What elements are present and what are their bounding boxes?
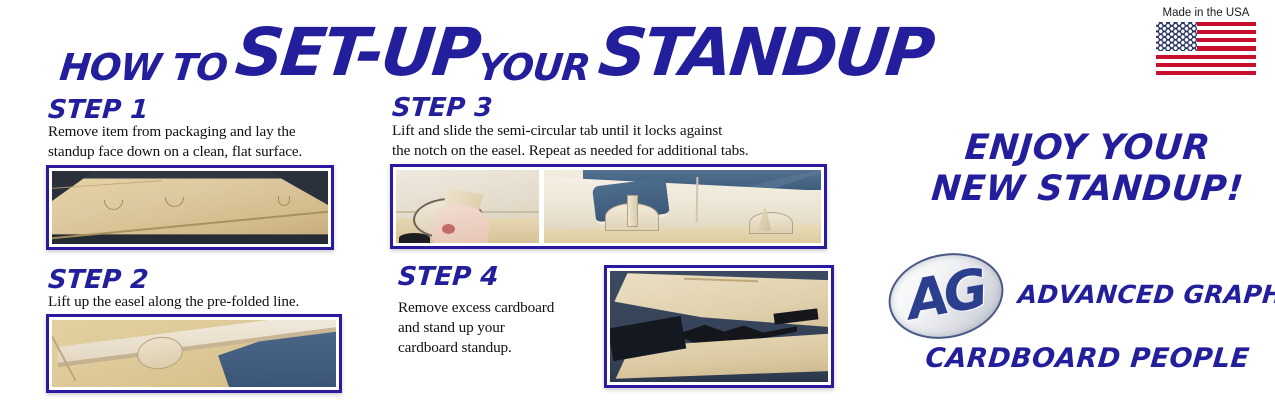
closing-line-1: ENJOY YOUR xyxy=(913,128,1262,169)
step-1-photo xyxy=(52,171,328,244)
step-4-photo xyxy=(610,271,828,382)
step-3-photo-right xyxy=(544,170,821,243)
title-part-your: YOUR xyxy=(476,49,591,86)
title-part-how-to: HOW TO xyxy=(58,49,229,86)
logo-monogram: AG xyxy=(879,238,1011,349)
step-3-heading: STEP 3 xyxy=(391,93,494,123)
step-2-photo xyxy=(52,320,336,387)
step-4-body: Remove excess cardboard and stand up you… xyxy=(398,298,618,357)
made-in-usa-badge: Made in the USA xyxy=(1150,7,1262,75)
brand-row: AG ADVANCED GRAPHICS xyxy=(886,248,1266,340)
closing-message: ENJOY YOUR NEW STANDUP! xyxy=(915,128,1260,211)
step-2-photo-frame xyxy=(46,314,342,393)
step-1-body: Remove item from packaging and lay the s… xyxy=(48,122,348,162)
step-4-photo-frame xyxy=(604,265,834,388)
made-in-usa-caption: Made in the USA xyxy=(1150,7,1262,19)
step-1-heading: STEP 1 xyxy=(47,95,150,125)
step-3-photo-frame xyxy=(390,164,827,249)
usa-flag-icon xyxy=(1156,22,1256,75)
advanced-graphics-logo-icon: AG xyxy=(886,248,1004,340)
step-3-body: Lift and slide the semi-circular tab unt… xyxy=(392,121,832,161)
step-3-photo-left xyxy=(396,170,539,243)
title-part-set-up: SET-UP xyxy=(232,20,481,86)
instruction-sheet: HOW TO SET-UP YOUR STANDUP Made in the U… xyxy=(0,0,1275,417)
step-1-photo-frame xyxy=(46,165,334,250)
closing-line-2: NEW STANDUP! xyxy=(913,169,1262,210)
step-4-heading: STEP 4 xyxy=(397,262,500,292)
title-part-standup: STANDUP xyxy=(595,20,935,86)
step-2-body: Lift up the easel along the pre-folded l… xyxy=(48,292,358,312)
company-tagline: CARDBOARD PEOPLE xyxy=(914,343,1262,374)
step-2-heading: STEP 2 xyxy=(47,265,150,295)
company-name: ADVANCED GRAPHICS xyxy=(1017,280,1275,309)
page-title: HOW TO SET-UP YOUR STANDUP xyxy=(60,14,932,86)
